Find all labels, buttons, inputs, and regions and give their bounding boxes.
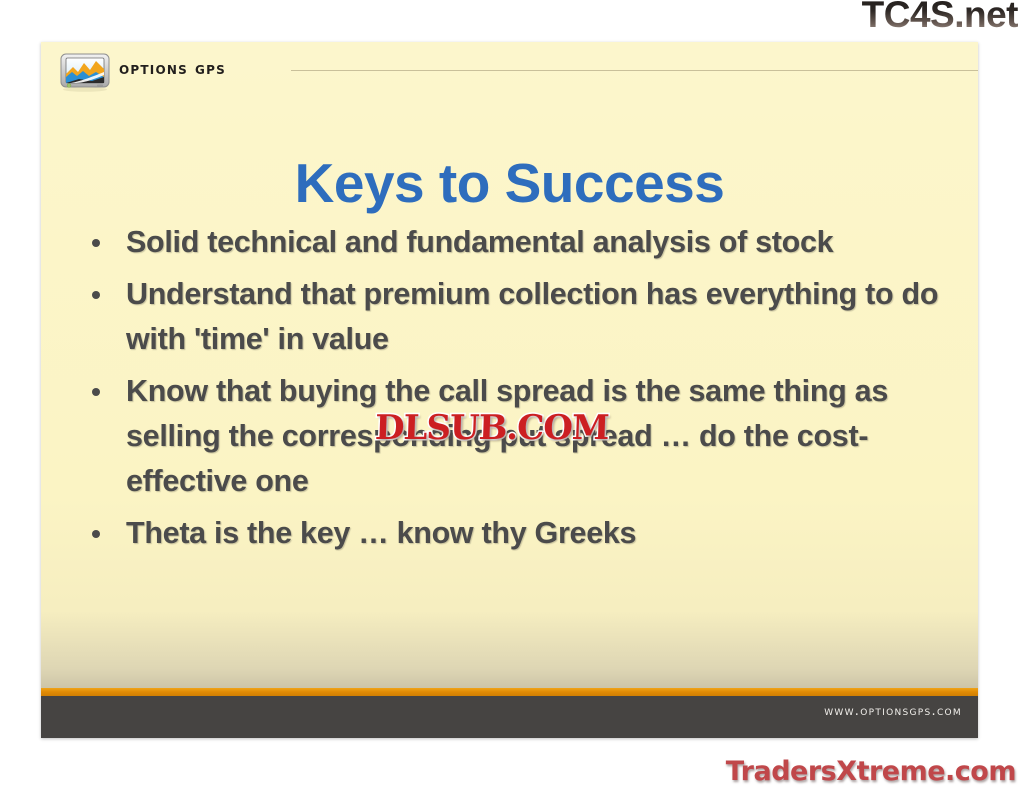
header-divider (291, 70, 978, 71)
presentation-slide: Options GPS Keys to Success Solid techni… (41, 42, 978, 738)
list-item: Theta is the key … know thy Greeks (82, 511, 962, 556)
dlsub-watermark-text: DLSUB.COM (374, 408, 609, 448)
dlsub-watermark: DLSUB.COM (374, 408, 609, 448)
tradersxtreme-watermark: TradersXtreme.com (726, 756, 1016, 787)
slide-header: Options GPS (41, 42, 978, 98)
footer-accent-stripe (41, 688, 978, 696)
list-item-text: Theta is the key … know thy Greeks (126, 516, 636, 550)
bullet-list: Solid technical and fundamental analysis… (82, 220, 962, 563)
list-item-text: Understand that premium collection has e… (126, 277, 938, 356)
logo-label: Options GPS (119, 59, 226, 79)
bullet-dot-icon (92, 291, 100, 299)
page-title: Keys to Success (41, 151, 978, 215)
list-item: Understand that premium collection has e… (82, 272, 946, 362)
tc4s-brand-watermark: TC4S.net (862, 0, 1018, 35)
slide-body: Options GPS Keys to Success Solid techni… (41, 42, 978, 688)
bullet-dot-icon (92, 239, 100, 247)
bullet-dot-icon (92, 388, 100, 396)
list-item-text: Solid technical and fundamental analysis… (126, 225, 833, 259)
list-item: Solid technical and fundamental analysis… (82, 220, 946, 265)
footer-url: www.OptionsGPS.com (824, 704, 962, 719)
gps-device-icon (59, 52, 111, 92)
bullet-dot-icon (92, 530, 100, 538)
slide-footer: www.OptionsGPS.com (41, 688, 978, 738)
